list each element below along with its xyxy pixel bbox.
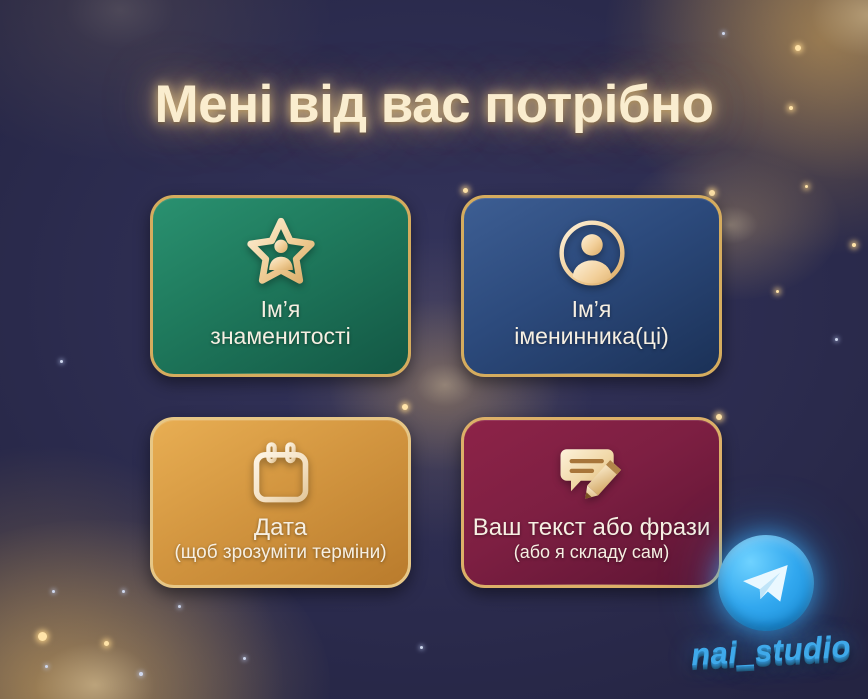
sparkle-particle bbox=[776, 290, 779, 293]
sparkle-particle bbox=[45, 665, 48, 668]
card-line-sub: (щоб зрозуміти терміни) bbox=[153, 542, 408, 564]
card-line-main: Дата bbox=[153, 514, 408, 542]
watermark: nai_studio bbox=[660, 525, 868, 699]
requirements-grid: Ім’я знаменитості bbox=[150, 195, 722, 588]
star-person-icon bbox=[244, 216, 318, 290]
poster-canvas: Мені від вас потрібно bbox=[0, 0, 868, 699]
sparkle-particle bbox=[722, 32, 725, 35]
sparkle-particle bbox=[795, 45, 801, 51]
card-birthday-person-name[interactable]: Ім’я іменинника(ці) bbox=[461, 195, 722, 377]
card-line-sub: знаменитості bbox=[153, 323, 408, 350]
sparkle-particle bbox=[835, 338, 838, 341]
card-label: Ім’я знаменитості bbox=[153, 296, 408, 350]
sparkle-particle bbox=[104, 641, 109, 646]
user-circle-icon bbox=[555, 216, 629, 290]
sparkle-particle bbox=[60, 360, 63, 363]
card-label: Ім’я іменинника(ці) bbox=[464, 296, 719, 350]
sparkle-particle bbox=[852, 243, 856, 247]
sparkle-particle bbox=[178, 605, 181, 608]
card-label: Дата (щоб зрозуміти терміни) bbox=[153, 514, 408, 565]
calendar-icon bbox=[246, 438, 316, 508]
card-date[interactable]: Дата (щоб зрозуміти терміни) bbox=[150, 417, 411, 588]
title-container: Мені від вас потрібно bbox=[0, 74, 868, 135]
card-line-main: Ім’я bbox=[464, 296, 719, 323]
sparkle-particle bbox=[139, 672, 143, 676]
card-celebrity-name[interactable]: Ім’я знаменитості bbox=[150, 195, 411, 377]
sparkle-particle bbox=[420, 646, 423, 649]
message-pencil-icon bbox=[555, 438, 629, 508]
sparkle-particle bbox=[52, 590, 55, 593]
sparkle-particle bbox=[38, 632, 47, 641]
telegram-icon[interactable] bbox=[718, 535, 814, 631]
sparkle-particle bbox=[463, 188, 468, 193]
card-line-sub: іменинника(ці) bbox=[464, 323, 719, 350]
sparkle-particle bbox=[122, 590, 125, 593]
card-line-main: Ім’я bbox=[153, 296, 408, 323]
sparkle-particle bbox=[243, 657, 246, 660]
watermark-handle: nai_studio bbox=[673, 628, 868, 674]
sparkle-particle bbox=[805, 185, 808, 188]
page-title: Мені від вас потрібно bbox=[154, 74, 713, 135]
